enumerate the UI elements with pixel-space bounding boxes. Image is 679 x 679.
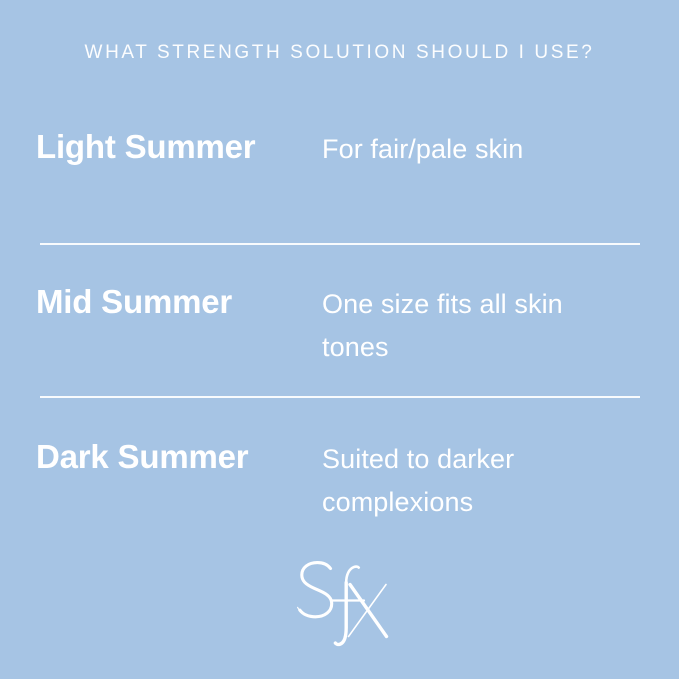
row-title-dark-summer: Dark Summer [36,438,322,476]
row-divider [40,396,640,398]
row-description-light-summer: For fair/pale skin [322,128,622,171]
row-description-mid-summer: One size fits all skin tones [322,283,622,369]
row-title-mid-summer: Mid Summer [36,283,322,321]
table-row: Mid Summer One size fits all skin tones [36,283,646,369]
table-row: Dark Summer Suited to darker complexions [36,438,646,524]
row-description-dark-summer: Suited to darker complexions [322,438,622,524]
page-title: WHAT STRENGTH SOLUTION SHOULD I USE? [0,42,679,64]
row-divider [40,243,640,245]
sfx-monogram-logo-icon [282,556,397,651]
strength-solution-card: WHAT STRENGTH SOLUTION SHOULD I USE? Lig… [0,0,679,679]
row-title-light-summer: Light Summer [36,128,322,166]
table-row: Light Summer For fair/pale skin [36,128,646,171]
